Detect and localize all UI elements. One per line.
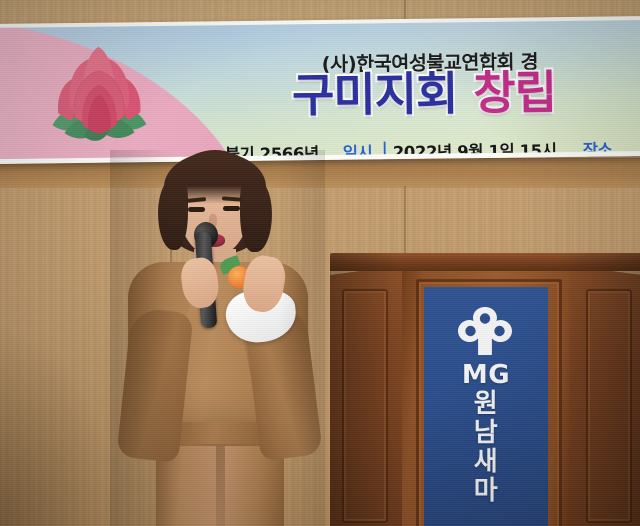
podium-text-won: 원 (424, 390, 548, 419)
podium-panel-right (586, 289, 632, 523)
banner-face: (사)한국여성불교연합회 경 구미지회창립 불기 2566년 일시 | 2022… (0, 20, 640, 159)
hair-fringe (164, 152, 266, 204)
banner-main-title: 구미지회창립 (292, 69, 556, 118)
wall-seam (404, 186, 406, 256)
podium-text-sae: 새 (424, 448, 548, 477)
woman-speaker (110, 150, 325, 526)
podium-text-nam: 남 (424, 419, 548, 448)
ceremony-banner: (사)한국여성불교연합회 경 구미지회창립 불기 2566년 일시 | 2022… (0, 16, 640, 164)
podium-text-ma: 마 (424, 477, 548, 506)
wall-shadow (0, 326, 120, 526)
speaking-podium: MG 원 남 새 마 (330, 253, 640, 526)
event-photo-scene: (사)한국여성불교연합회 경 구미지회창립 불기 2566년 일시 | 2022… (0, 0, 640, 526)
banner-title-branch: 구미지회 (292, 66, 458, 122)
banner-title-founding: 창립 (473, 65, 556, 120)
podium-top-edge (330, 253, 640, 271)
eye-left (188, 207, 205, 212)
podium-text-mg: MG (424, 361, 548, 390)
podium-panel-left (342, 289, 388, 523)
podium-sign-text: MG 원 남 새 마 (424, 361, 548, 507)
mg-trefoil-clover-icon (456, 305, 514, 355)
eye-right (223, 206, 240, 211)
podium-blue-sign: MG 원 남 새 마 (424, 287, 548, 526)
trouser-crease (216, 440, 225, 526)
